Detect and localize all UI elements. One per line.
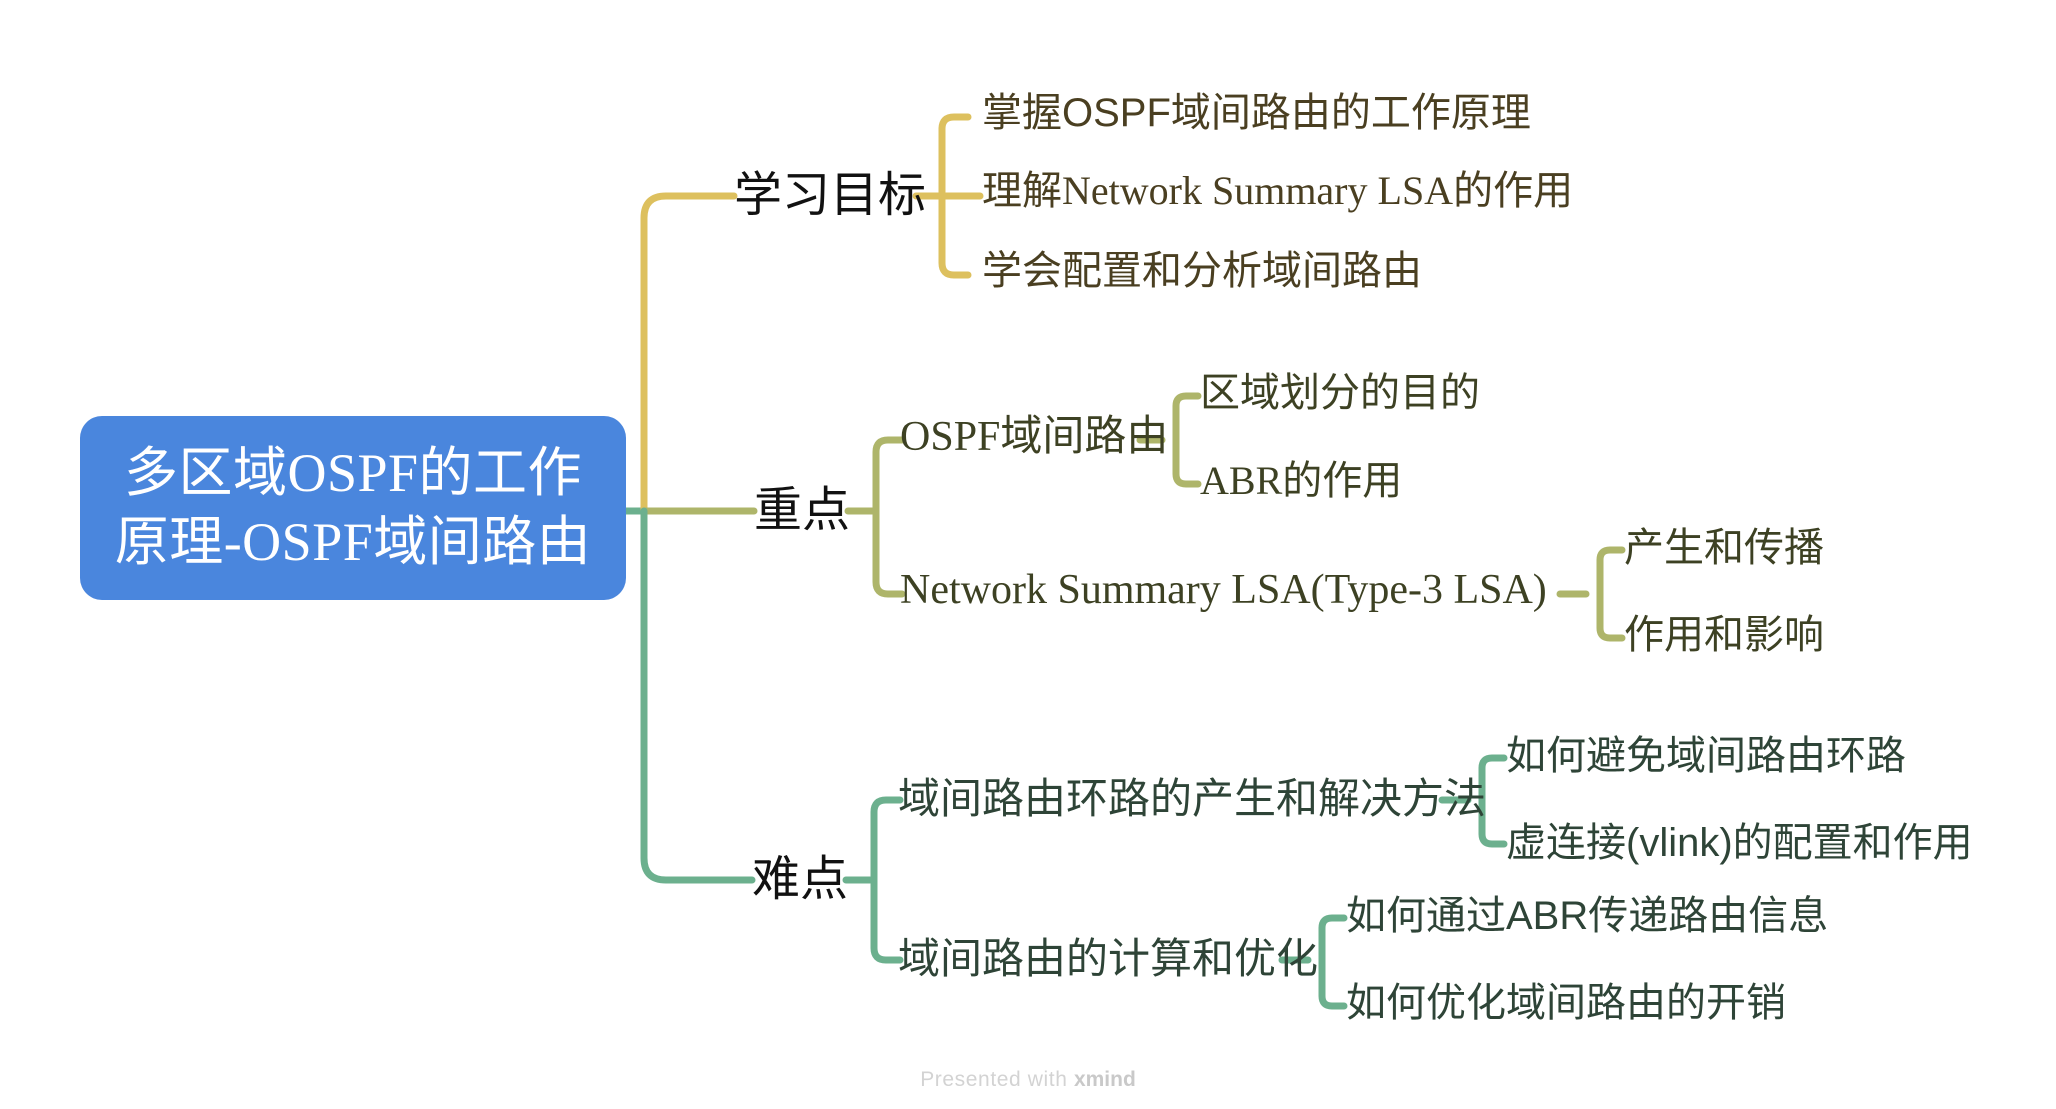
branch-topic-goal-label: 学习目标 bbox=[734, 169, 926, 222]
watermark: Presented with xmind bbox=[0, 1068, 2056, 1092]
leaf-hard-2-2-label: 如何优化域间路由的开销 bbox=[1346, 981, 1786, 1025]
wire-trunk-goal bbox=[644, 196, 734, 511]
leaf-goal-1-label: 掌握OSPF域间路由的工作原理 bbox=[982, 91, 1531, 135]
leaf-goal-1[interactable]: 掌握OSPF域间路由的工作原理 bbox=[982, 90, 1531, 136]
leaf-goal-3[interactable]: 学会配置和分析域间路由 bbox=[982, 248, 1422, 294]
subtopic-interarea-calc[interactable]: 域间路由的计算和优化 bbox=[898, 935, 1318, 983]
leaf-key-1-1[interactable]: 区域划分的目的 bbox=[1200, 370, 1480, 416]
subtopic-ospf-interarea[interactable]: OSPF域间路由 bbox=[900, 413, 1168, 461]
subtopic-interarea-loop[interactable]: 域间路由环路的产生和解决方法 bbox=[898, 775, 1486, 823]
leaf-hard-1-1[interactable]: 如何避免域间路由环路 bbox=[1506, 733, 1906, 779]
leaf-key-1-2[interactable]: ABR的作用 bbox=[1200, 458, 1402, 504]
wire-hard-bracket bbox=[874, 800, 900, 960]
leaf-key-2-1-label: 产生和传播 bbox=[1624, 526, 1824, 570]
leaf-key-1-1-label: 区域划分的目的 bbox=[1200, 371, 1480, 415]
branch-topic-hard[interactable]: 难点 bbox=[752, 852, 848, 907]
watermark-brand: xmind bbox=[1074, 1068, 1136, 1091]
wire-calc-bracket bbox=[1322, 918, 1344, 1006]
leaf-key-1-2-label: ABR的作用 bbox=[1200, 458, 1402, 503]
leaf-key-2-1[interactable]: 产生和传播 bbox=[1624, 525, 1824, 571]
wire-ospf-bracket bbox=[1176, 396, 1198, 484]
subtopic-network-summary-lsa[interactable]: Network Summary LSA(Type-3 LSA) bbox=[900, 566, 1547, 614]
leaf-hard-2-2[interactable]: 如何优化域间路由的开销 bbox=[1346, 980, 1786, 1026]
leaf-hard-2-1[interactable]: 如何通过ABR传递路由信息 bbox=[1346, 893, 1828, 939]
wire-trunk-hard bbox=[644, 511, 752, 880]
root-node[interactable]: 多区域OSPF的工作原理-OSPF域间路由 bbox=[80, 416, 626, 600]
mindmap-canvas: 多区域OSPF的工作原理-OSPF域间路由 学习目标 掌握OSPF域间路由的工作… bbox=[0, 0, 2056, 1109]
leaf-key-2-2-label: 作用和影响 bbox=[1624, 613, 1824, 657]
root-label: 多区域OSPF的工作原理-OSPF域间路由 bbox=[106, 439, 600, 577]
leaf-goal-3-label: 学会配置和分析域间路由 bbox=[982, 249, 1422, 293]
leaf-hard-1-2-label: 虚连接(vlink)的配置和作用 bbox=[1506, 821, 1973, 865]
subtopic-interarea-loop-label: 域间路由环路的产生和解决方法 bbox=[898, 775, 1486, 822]
branch-topic-key-label: 重点 bbox=[754, 484, 850, 537]
subtopic-ospf-interarea-label: OSPF域间路由 bbox=[900, 414, 1168, 460]
leaf-key-2-2[interactable]: 作用和影响 bbox=[1624, 612, 1824, 658]
leaf-goal-2-label: 理解Network Summary LSA的作用 bbox=[982, 168, 1573, 213]
branch-topic-goal[interactable]: 学习目标 bbox=[734, 168, 926, 223]
leaf-hard-2-1-label: 如何通过ABR传递路由信息 bbox=[1346, 894, 1828, 938]
leaf-goal-2[interactable]: 理解Network Summary LSA的作用 bbox=[982, 168, 1573, 214]
wire-lsa-bracket bbox=[1600, 550, 1622, 638]
leaf-hard-1-2[interactable]: 虚连接(vlink)的配置和作用 bbox=[1506, 820, 1973, 866]
wire-goal-bracket bbox=[942, 117, 968, 275]
leaf-hard-1-1-label: 如何避免域间路由环路 bbox=[1506, 734, 1906, 778]
branch-topic-hard-label: 难点 bbox=[752, 853, 848, 906]
branch-topic-key[interactable]: 重点 bbox=[754, 483, 850, 538]
subtopic-interarea-calc-label: 域间路由的计算和优化 bbox=[898, 935, 1318, 982]
subtopic-network-summary-lsa-label: Network Summary LSA(Type-3 LSA) bbox=[900, 567, 1547, 613]
watermark-prefix: Presented with bbox=[920, 1068, 1067, 1091]
wire-key-bracket bbox=[876, 440, 902, 594]
